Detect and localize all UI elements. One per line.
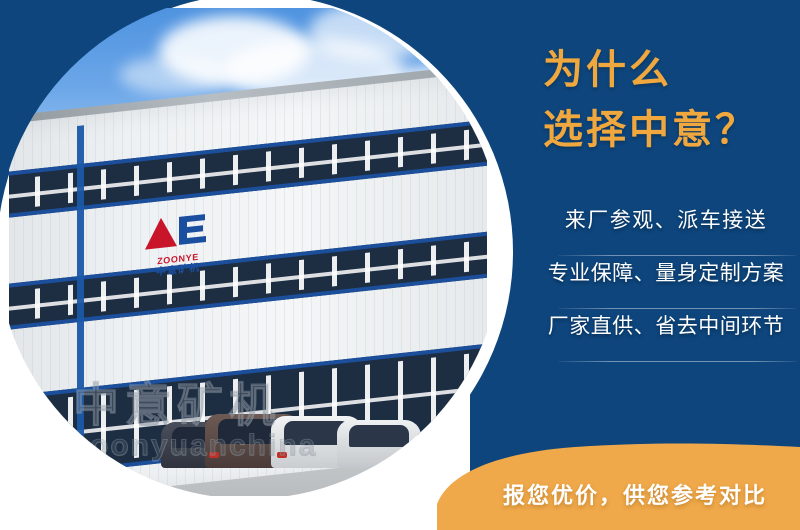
photo-circle: ZOONYE 中意矿机 中意矿机 zoonyuanchina: [0, 0, 502, 499]
photo-ring: ZOONYE 中意矿机 中意矿机 zoonyuanchina: [0, 0, 513, 510]
headline: 为什么 选择中意？: [543, 40, 758, 160]
headline-line-1: 为什么: [543, 48, 672, 92]
feature-divider: [558, 361, 796, 362]
building-logo: ZOONYE 中意矿机: [135, 209, 221, 286]
feature-label: 专业保障、量身定制方案: [540, 259, 792, 289]
corner-trim: [77, 125, 84, 456]
parked-car: [337, 420, 421, 468]
feature-item-3: 厂家直供、省去中间环节: [540, 309, 792, 362]
factory-photo: ZOONYE 中意矿机 中意矿机 zoonyuanchina: [9, 8, 487, 496]
feature-label: 来厂参观、派车接送: [540, 206, 792, 236]
feature-item-2: 专业保障、量身定制方案: [540, 256, 792, 309]
factory-building: ZOONYE 中意矿机: [9, 8, 487, 496]
promo-banner: ZOONYE 中意矿机 中意矿机 zoonyuanchina 为什么 选择中意？: [0, 0, 800, 530]
ribbon-label: 报您优价，供您参考对比: [470, 481, 800, 511]
feature-list: 来厂参观、派车接送 专业保障、量身定制方案 厂家直供、省去中间环节: [540, 203, 792, 362]
feature-label: 厂家直供、省去中间环节: [540, 312, 792, 342]
feature-item-1: 来厂参观、派车接送: [540, 203, 792, 256]
headline-line-2: 选择中意？: [543, 100, 758, 160]
